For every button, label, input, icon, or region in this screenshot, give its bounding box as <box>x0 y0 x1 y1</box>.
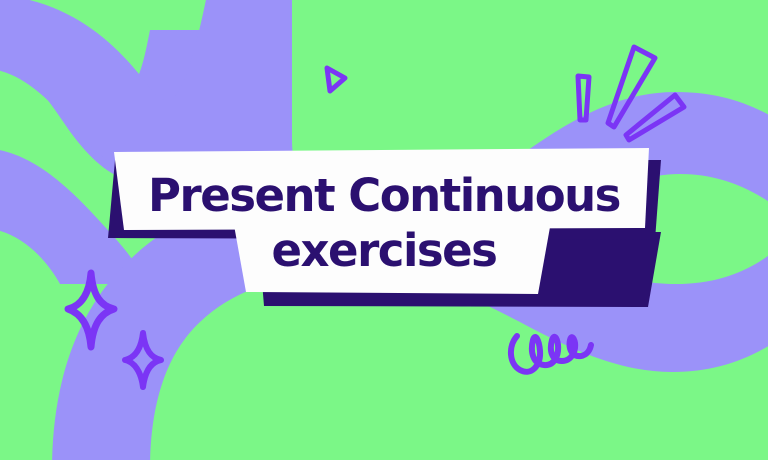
sparkle-large-icon <box>68 273 114 347</box>
burst-spike-left-icon <box>578 76 589 120</box>
page-title-line-2: exercises <box>0 228 768 273</box>
page-title-line-1: Present Continuous <box>0 173 768 218</box>
burst-spike-right-icon <box>626 95 684 140</box>
triangle-icon <box>327 68 345 91</box>
coil-squiggle-icon <box>511 336 591 372</box>
sparkle-small-icon <box>125 333 161 387</box>
poster-canvas: Present Continuous exercises <box>0 0 768 460</box>
